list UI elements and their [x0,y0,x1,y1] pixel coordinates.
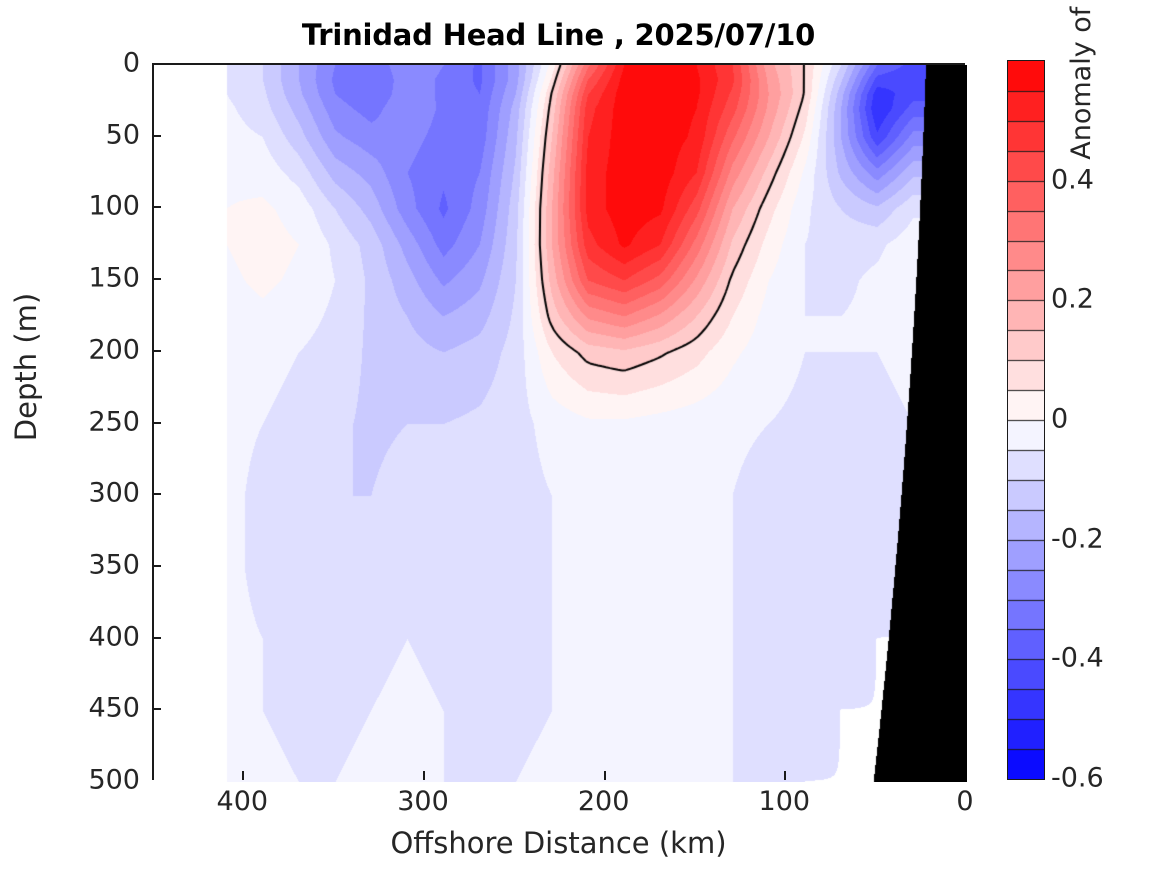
y-tick-label: 150 [88,263,150,294]
colorbar-tick-label: -0.2 [1051,523,1104,554]
x-tick-label: 100 [759,786,811,817]
contour-field [154,65,967,782]
figure-canvas: Trinidad Head Line , 2025/07/10 05010015… [0,0,1167,875]
y-tick-label: 400 [88,621,150,652]
x-axis-label: Offshore Distance (km) [152,826,965,860]
y-tick-label: 0 [123,48,150,79]
y-tick-label: 50 [106,119,150,150]
colorbar-tick-label: 0.2 [1051,284,1094,315]
y-tick-label: 100 [88,191,150,222]
x-tick-label: 0 [956,786,973,817]
colorbar-tick-label: -0.4 [1051,643,1104,674]
y-tick-label: 500 [88,765,150,796]
y-tick-label: 450 [88,693,150,724]
y-tick-mark [152,565,161,567]
x-tick-mark [242,771,244,780]
page-title: Trinidad Head Line , 2025/07/10 [152,18,965,52]
x-tick-label: 200 [578,786,630,817]
x-tick-mark [423,771,425,780]
y-tick-mark [152,708,161,710]
y-tick-mark [152,493,161,495]
colorbar-gradient [1007,60,1045,780]
y-tick-mark [152,135,161,137]
colorbar-title: Anomaly of Salinity (psu) [1066,0,1097,180]
y-tick-label: 300 [88,478,150,509]
y-tick-mark [152,278,161,280]
colorbar: 0.40.20-0.2-0.4-0.6 [1007,60,1043,778]
y-axis-label: Depth (m) [9,257,43,477]
y-tick-label: 200 [88,334,150,365]
x-tick-mark [784,771,786,780]
y-tick-mark [152,637,161,639]
y-tick-mark [152,422,161,424]
colorbar-tick-label: -0.6 [1051,763,1104,794]
x-tick-label: 300 [397,786,449,817]
y-tick-label: 250 [88,406,150,437]
y-tick-mark [152,206,161,208]
x-tick-label: 400 [217,786,269,817]
x-tick-mark [604,771,606,780]
y-tick-label: 350 [88,549,150,580]
plot-axes [152,63,965,780]
colorbar-tick-label: 0 [1051,404,1068,435]
y-tick-mark [152,350,161,352]
